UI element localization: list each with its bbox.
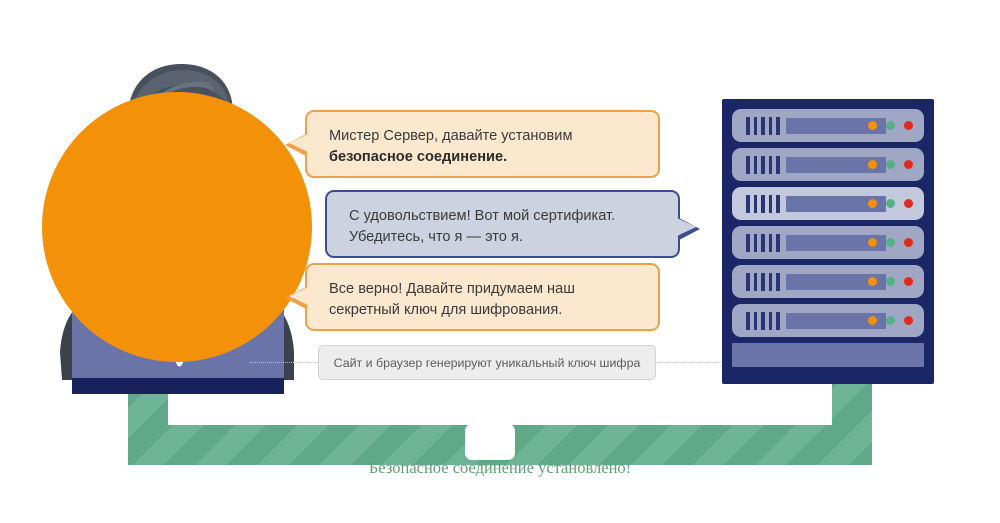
padlock-icon: [457, 394, 523, 462]
led-red-icon: [904, 277, 913, 286]
led-orange-icon: [868, 121, 877, 130]
led-red-icon: [904, 316, 913, 325]
bubble-3-line-2: секретный ключ для шифрования.: [329, 300, 640, 321]
connector-line-left: [250, 362, 320, 363]
vents-icon: [746, 156, 780, 174]
shared-key-note: Сайт и браузер генерируют уникальный клю…: [318, 345, 656, 380]
caption-text: Безопасное соединение установлено!: [0, 458, 1000, 478]
speech-bubble-browser-1: Мистер Сервер, давайте установим безопас…: [305, 110, 660, 178]
led-green-icon: [886, 316, 895, 325]
led-orange-icon: [868, 199, 877, 208]
server-rack: [722, 99, 934, 384]
infographic-canvas: Мистер Сервер, давайте установим безопас…: [0, 0, 1000, 523]
orange-circle-backdrop: [42, 92, 312, 362]
led-red-icon: [904, 121, 913, 130]
bubble-1-line-1: Мистер Сервер, давайте установим: [329, 126, 640, 147]
vents-icon: [746, 312, 780, 330]
caption-label: Безопасное соединение установлено!: [369, 458, 631, 477]
connector-line-right: [655, 362, 723, 363]
speech-bubble-browser-2: Все верно! Давайте придумаем наш секретн…: [305, 263, 660, 331]
vents-icon: [746, 234, 780, 252]
status-leds: [868, 238, 913, 247]
bubble-tail-fill: [289, 134, 308, 152]
speech-bubble-server: С удовольствием! Вот мой сертификат. Убе…: [325, 190, 680, 258]
rack-unit: [732, 109, 924, 142]
bubble-1-line-2: безопасное соединение.: [329, 147, 640, 168]
bubble-2-line-1: С удовольствием! Вот мой сертификат.: [349, 206, 660, 227]
led-orange-icon: [868, 238, 877, 247]
vents-icon: [746, 117, 780, 135]
rack-unit: [732, 226, 924, 259]
led-orange-icon: [868, 160, 877, 169]
browser-character: [0, 0, 330, 420]
led-green-icon: [886, 277, 895, 286]
bubble-tail-fill: [677, 218, 696, 236]
status-leds: [868, 316, 913, 325]
led-green-icon: [886, 160, 895, 169]
status-leds: [868, 160, 913, 169]
led-green-icon: [886, 238, 895, 247]
led-green-icon: [886, 199, 895, 208]
shared-key-note-label: Сайт и браузер генерируют уникальный клю…: [334, 356, 641, 370]
rack-base-panel: [732, 343, 924, 367]
rack-unit: [732, 304, 924, 337]
status-leds: [868, 277, 913, 286]
led-orange-icon: [868, 277, 877, 286]
status-leds: [868, 121, 913, 130]
vents-icon: [746, 195, 780, 213]
led-red-icon: [904, 238, 913, 247]
rack-unit-active: [732, 187, 924, 220]
bubble-2-line-2: Убедитесь, что я — это я.: [349, 227, 660, 248]
rack-unit: [732, 148, 924, 181]
status-leds: [868, 199, 913, 208]
led-orange-icon: [868, 316, 877, 325]
bubble-3-line-1: Все верно! Давайте придумаем наш: [329, 279, 640, 300]
led-red-icon: [904, 199, 913, 208]
led-green-icon: [886, 121, 895, 130]
bubble-tail-fill: [289, 287, 308, 305]
vents-icon: [746, 273, 780, 291]
rack-unit: [732, 265, 924, 298]
led-red-icon: [904, 160, 913, 169]
